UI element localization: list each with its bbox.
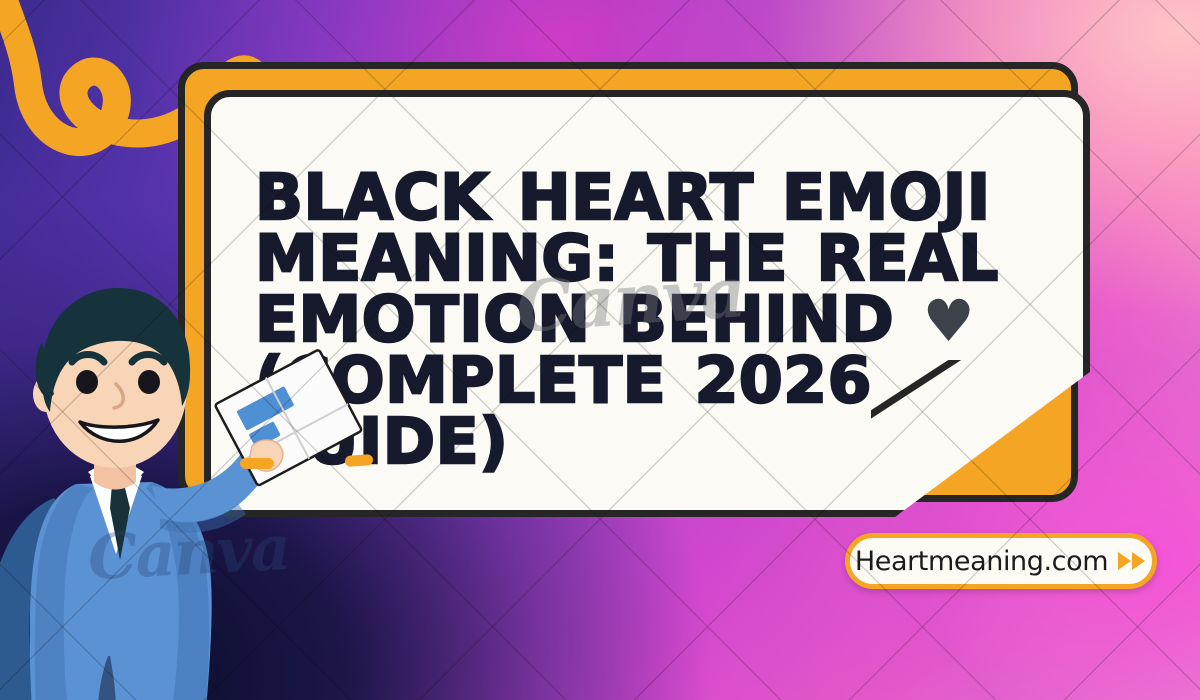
orange-dash-right — [345, 454, 374, 467]
title-block: BLACK HEART EMOJIMEANING: THE REALEMOTIO… — [255, 167, 1063, 473]
page-title: BLACK HEART EMOJIMEANING: THE REALEMOTIO… — [255, 167, 1063, 473]
black-heart-icon: ♥ — [923, 287, 976, 355]
website-badge-label: Heartmeaning.com — [855, 546, 1108, 577]
orange-dash-left — [240, 458, 274, 469]
businessman-illustration — [0, 270, 344, 700]
fast-forward-icon — [1117, 549, 1147, 573]
website-badge[interactable]: Heartmeaning.com — [845, 533, 1157, 589]
poster-canvas: BLACK HEART EMOJIMEANING: THE REALEMOTIO… — [0, 0, 1200, 700]
